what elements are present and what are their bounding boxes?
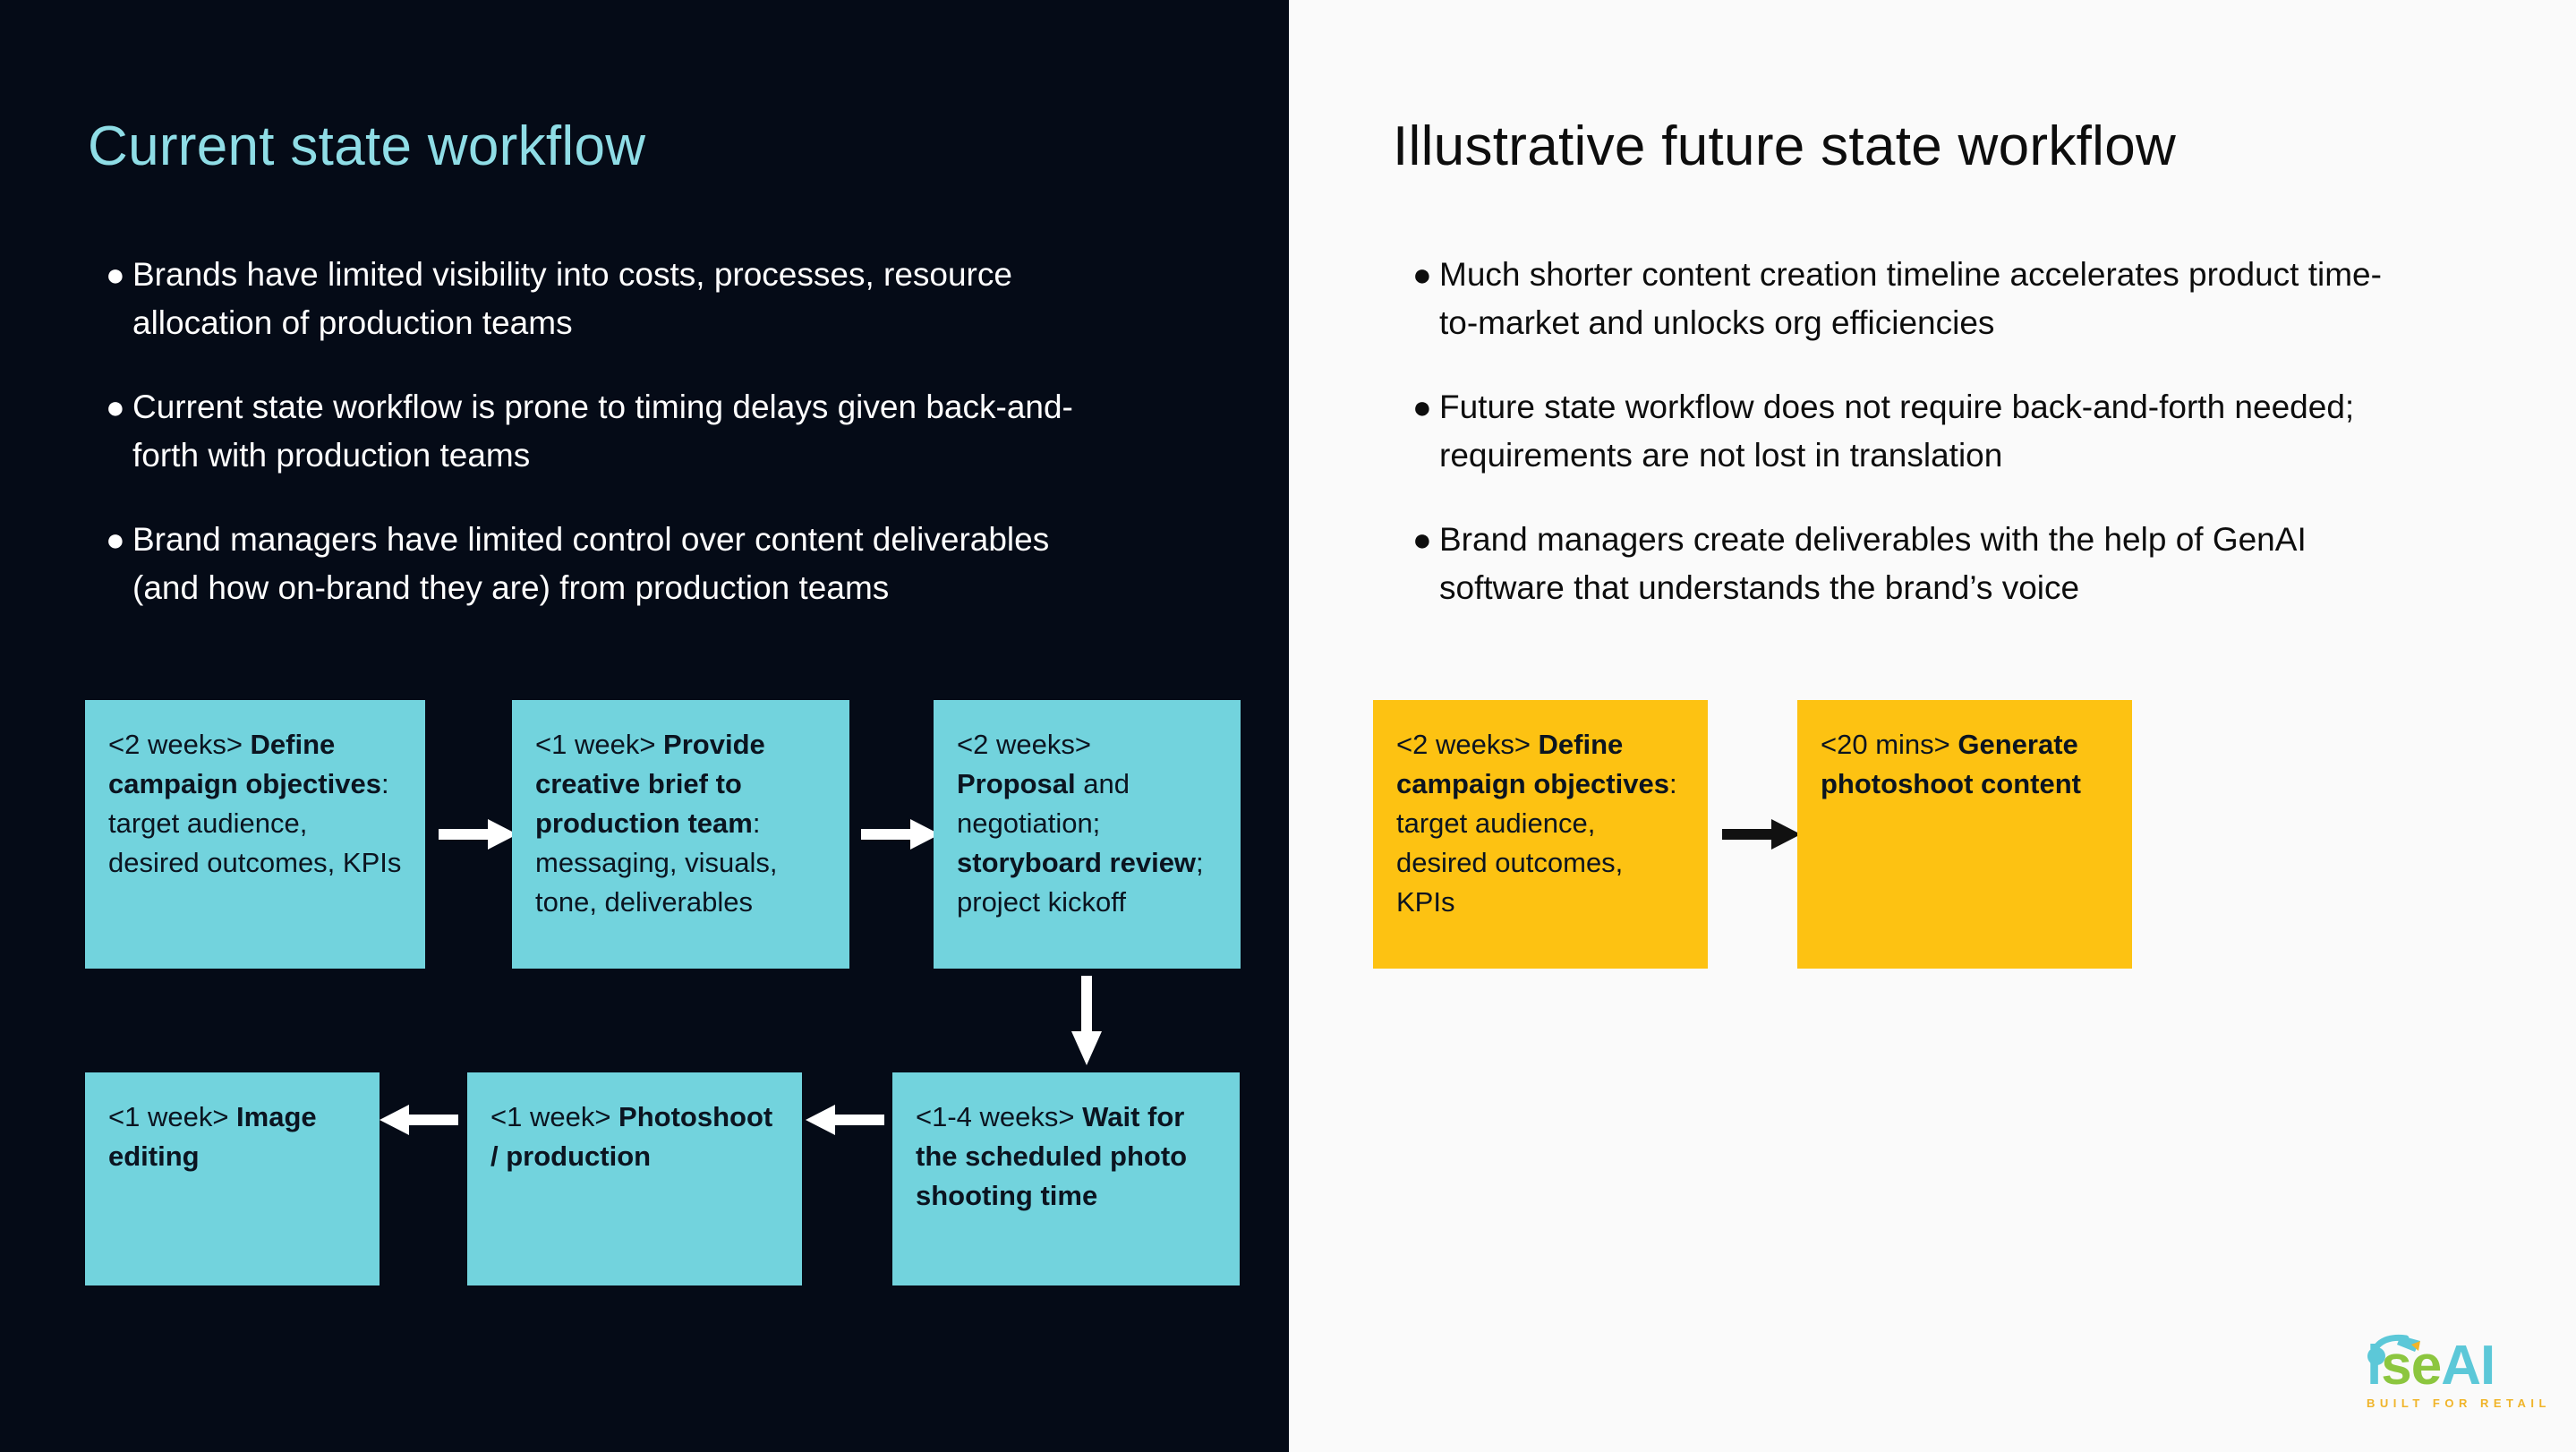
flow-box-define-campaign-objectives: <2 weeks> Define campaign objectives: ta… bbox=[85, 700, 425, 969]
current-state-title: Current state workflow bbox=[88, 115, 645, 178]
list-item-text: Much shorter content creation timeline a… bbox=[1439, 251, 2406, 347]
flow-box-duration: <2 weeks> bbox=[957, 729, 1091, 760]
arrow-right-icon-3 bbox=[1722, 819, 1801, 850]
future-flow-box-generate-photoshoot-content: <20 mins> Generate photoshoot content bbox=[1797, 700, 2132, 969]
flow-box-image-editing: <1 week> Image editing bbox=[85, 1072, 380, 1285]
flow-box-proposal-negotiation: <2 weeks> Proposal and negotiation; stor… bbox=[934, 700, 1241, 969]
arrow-left-icon-1 bbox=[806, 1105, 884, 1135]
flow-box-duration: <2 weeks> bbox=[108, 729, 251, 760]
flow-box-duration: <2 weeks> bbox=[1396, 729, 1539, 760]
current-state-panel: Current state workflow ● Brands have lim… bbox=[0, 0, 1289, 1452]
list-item-text: Brand managers have limited control over… bbox=[132, 516, 1099, 612]
list-item-text: Brands have limited visibility into cost… bbox=[132, 251, 1099, 347]
flow-box-duration: <1 week> bbox=[108, 1101, 236, 1132]
flow-box-title-2: storyboard review bbox=[957, 847, 1196, 878]
bullet-dot-icon: ● bbox=[86, 383, 132, 431]
list-item: ● Brands have limited visibility into co… bbox=[86, 251, 1223, 347]
bullet-dot-icon: ● bbox=[1393, 383, 1439, 431]
slide-root: Current state workflow ● Brands have lim… bbox=[0, 0, 2576, 1452]
list-item: ● Much shorter content creation timeline… bbox=[1393, 251, 2529, 347]
iseai-logo: iseAI BUILT FOR RETAIL bbox=[2367, 1337, 2572, 1410]
arrow-down-icon bbox=[1071, 976, 1102, 1065]
flow-box-duration: <1-4 weeks> bbox=[916, 1101, 1082, 1132]
bullet-dot-icon: ● bbox=[1393, 516, 1439, 564]
arrow-right-icon-1 bbox=[439, 819, 517, 850]
future-flow-box-define-campaign-objectives: <2 weeks> Define campaign objectives: ta… bbox=[1373, 700, 1708, 969]
arrow-left-icon-2 bbox=[380, 1105, 458, 1135]
list-item: ● Brand managers have limited control ov… bbox=[86, 516, 1223, 612]
list-item-text: Brand managers create deliverables with … bbox=[1439, 516, 2406, 612]
flow-box-title: Proposal bbox=[957, 768, 1076, 799]
future-state-title: Illustrative future state workflow bbox=[1393, 115, 2176, 178]
list-item: ● Future state workflow does not require… bbox=[1393, 383, 2529, 480]
flow-box-provide-creative-brief: <1 week> Provide creative brief to produ… bbox=[512, 700, 849, 969]
list-item: ● Current state workflow is prone to tim… bbox=[86, 383, 1223, 480]
flow-box-wait-for-photoshoot: <1-4 weeks> Wait for the scheduled photo… bbox=[892, 1072, 1240, 1285]
lamp-icon bbox=[2365, 1332, 2436, 1370]
bullet-dot-icon: ● bbox=[86, 251, 132, 299]
future-state-panel: Illustrative future state workflow ● Muc… bbox=[1289, 0, 2576, 1452]
bullet-dot-icon: ● bbox=[86, 516, 132, 564]
flow-box-duration: <20 mins> bbox=[1821, 729, 1958, 760]
flow-box-duration: <1 week> bbox=[535, 729, 663, 760]
bullet-dot-icon: ● bbox=[1393, 251, 1439, 299]
logo-tagline: BUILT FOR RETAIL bbox=[2367, 1396, 2572, 1410]
flow-box-duration: <1 week> bbox=[490, 1101, 618, 1132]
list-item-text: Future state workflow does not require b… bbox=[1439, 383, 2406, 480]
future-state-bullet-list: ● Much shorter content creation timeline… bbox=[1393, 251, 2529, 648]
list-item: ● Brand managers create deliverables wit… bbox=[1393, 516, 2529, 612]
list-item-text: Current state workflow is prone to timin… bbox=[132, 383, 1099, 480]
flow-box-photoshoot-production: <1 week> Photoshoot / production bbox=[467, 1072, 802, 1285]
current-state-bullet-list: ● Brands have limited visibility into co… bbox=[86, 251, 1223, 648]
logo-part-ai: AI bbox=[2441, 1335, 2495, 1396]
arrow-right-icon-2 bbox=[861, 819, 940, 850]
